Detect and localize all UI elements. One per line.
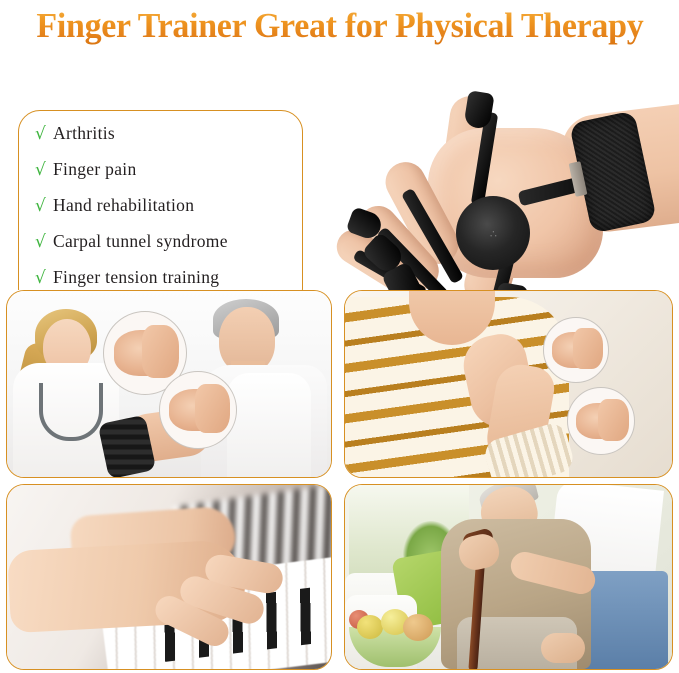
scene-living-room [345,485,672,669]
inset-hand-closeup-a [543,317,609,383]
inset-fingers [573,328,602,369]
stethoscope-icon [39,383,103,441]
benefit-label: Carpal tunnel syndrome [53,231,228,252]
fruit-pear [403,614,433,641]
hero-section: ∴ Light √ Arthritis √ Finger pain √ Hand… [0,40,679,290]
elderly-hand-resting [541,633,585,663]
scene-wrist-pain [345,291,672,477]
list-item: √ Arthritis [35,123,292,159]
use-case-gallery [0,288,679,673]
benefit-label: Arthritis [53,123,115,144]
list-item: √ Hand rehabilitation [35,195,292,231]
inset-fingers [142,325,180,377]
list-item: √ Finger tension training [35,267,292,290]
check-icon: √ [35,198,53,215]
gallery-panel-piano [6,484,332,670]
patient-tank-top [227,373,311,478]
brand-logo-icon: ∴ [490,228,496,241]
hand-with-finger-trainer: ∴ [350,88,679,290]
benefit-label: Hand rehabilitation [53,195,194,216]
product-feature-image: Finger Trainer Great for Physical Therap… [0,0,679,673]
page-title: Finger Trainer Great for Physical Therap… [0,0,679,52]
trainer-hub: ∴ [456,196,530,270]
inset-fingers [598,399,628,441]
check-icon: √ [35,234,53,251]
list-item: √ Finger pain [35,159,292,195]
inset-hand-closeup-b [567,387,635,455]
page-title-text: Finger Trainer Great for Physical Therap… [36,6,643,46]
product-photo: ∴ Light [330,80,679,290]
fruit-lemon-1 [357,615,383,639]
inset-hand-closeup-b [159,371,237,449]
inset-fingers [195,384,230,433]
check-icon: √ [35,126,53,143]
scene-piano [7,485,331,669]
benefits-list: √ Arthritis √ Finger pain √ Hand rehabil… [18,110,303,290]
gallery-panel-elderly-care [344,484,673,670]
benefit-label: Finger pain [53,159,137,180]
check-icon: √ [35,162,53,179]
gallery-panel-clinician [6,290,332,478]
benefit-label: Finger tension training [53,267,219,288]
check-icon: √ [35,270,53,287]
scene-clinic [7,291,331,477]
gallery-panel-wrist-pain [344,290,673,478]
list-item: √ Carpal tunnel syndrome [35,231,292,267]
